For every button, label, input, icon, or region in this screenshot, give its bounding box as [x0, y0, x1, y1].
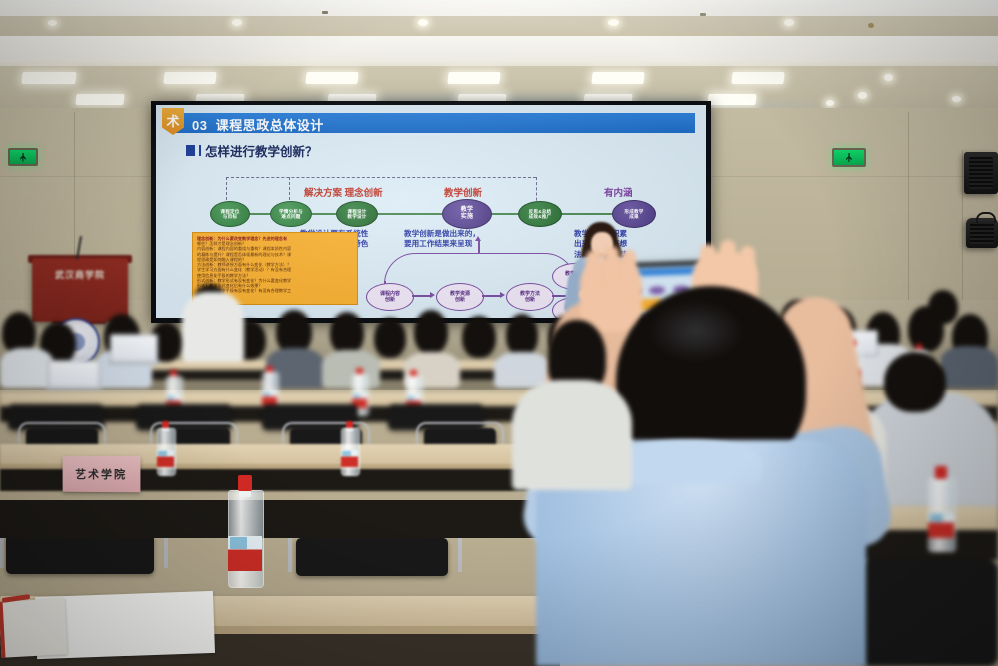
bottle-cap — [916, 344, 922, 350]
finger — [700, 244, 716, 280]
podium: 武汉商学院 — [32, 258, 128, 322]
water-bottle — [157, 428, 174, 474]
downlight — [826, 100, 834, 106]
audience-torso — [182, 292, 244, 362]
water-bottle — [341, 428, 358, 474]
sub-node-2: 教学方法 创新 — [506, 283, 554, 311]
ceiling-panel-light — [591, 72, 644, 84]
flow-category-2: 有内涵 — [604, 185, 633, 199]
bottle-cap — [935, 466, 946, 478]
node-line2: 创新 — [455, 297, 465, 303]
laptop-base — [108, 361, 160, 365]
sub-connector — [552, 295, 566, 297]
ceiling-panel-light — [731, 72, 784, 84]
bottle-cap — [238, 475, 253, 491]
table-tent-label: 艺术学院 — [75, 466, 127, 482]
slide-question-heading: 怎样进行教学创新？ — [186, 141, 318, 160]
ceiling-panel-light — [75, 94, 124, 105]
downlight — [952, 96, 961, 102]
downlight — [418, 19, 428, 26]
downlight — [48, 20, 57, 26]
feedback-dash-line — [226, 177, 536, 178]
node-line2: 教学设计 — [347, 214, 366, 219]
slide-section-title: 课程思政总体设计 — [216, 118, 324, 133]
node-line2: 成果 — [629, 214, 639, 219]
table-tent-card: 艺术学院 — [63, 456, 141, 492]
flow-node-3: 教学 实施 — [442, 199, 492, 229]
laptop-base — [46, 387, 102, 391]
bottle-cap — [356, 368, 363, 375]
sub-node-1: 教学资源 创新 — [436, 283, 484, 311]
water-bottle — [928, 478, 954, 550]
flow-node-2: 课程设计 教学设计 — [336, 201, 378, 227]
laptop-screen — [48, 360, 100, 390]
phone-slide-node — [649, 286, 665, 295]
finger — [604, 246, 619, 280]
photographer-collar — [612, 440, 762, 484]
node-line1: 教学 — [461, 207, 473, 214]
ceiling-band-upper — [0, 16, 998, 38]
bottle-label — [157, 450, 174, 467]
downlight — [608, 19, 619, 26]
bottle-cap — [266, 366, 273, 373]
hair-highlight — [648, 300, 744, 362]
bottle-cap — [170, 370, 177, 377]
smoke-detector — [868, 23, 874, 28]
bottle-cap — [410, 370, 417, 377]
podium-institution-name: 武汉商学院 — [32, 268, 128, 281]
wall-speaker-right — [964, 152, 998, 194]
audience-torso — [512, 380, 632, 490]
node-line2: 难点问题 — [281, 214, 300, 219]
downlight — [232, 19, 242, 26]
audience-head — [462, 316, 496, 358]
ceiling-panel-light — [163, 72, 216, 84]
ceiling-panel-light — [305, 72, 358, 84]
running-man-icon — [846, 153, 852, 162]
node-line2: 成效&推广 — [529, 214, 552, 219]
notebook — [0, 598, 67, 657]
audience-head — [928, 290, 958, 324]
sub-flow-brace-stem — [478, 241, 480, 254]
sub-connector — [482, 295, 502, 297]
laptop-screen — [110, 334, 158, 364]
bottle-cap — [162, 421, 169, 429]
exit-sign-right — [832, 148, 866, 167]
downlight — [784, 19, 794, 26]
flow-node-0: 课程定位 与目标 — [210, 201, 250, 227]
flow-note-1: 教学创新是做出来的， 要用工作结果来呈现 — [404, 229, 480, 250]
audience-head — [414, 310, 448, 354]
water-bottle-foreground — [228, 490, 262, 586]
ceiling-sensor — [700, 13, 706, 16]
audience-torso — [0, 348, 54, 388]
finger — [586, 250, 601, 286]
lecture-hall-photo: 术 03 课程思政总体设计 怎样进行教学创新？ 解决方案 理念创新 教学创新 有… — [0, 0, 998, 666]
finger — [622, 250, 636, 280]
audience-head — [330, 312, 364, 354]
node-line2: 创新 — [525, 297, 535, 303]
finger — [740, 246, 755, 280]
running-man-icon — [20, 153, 26, 162]
node-line2: 与目标 — [223, 214, 237, 219]
flow-node-5: 形成教学 成果 — [612, 200, 656, 228]
slide-badge-glyph: 术 — [166, 115, 179, 128]
ceiling-sensor — [322, 11, 328, 14]
flow-node-4: 反思&总结 成效&推广 — [518, 201, 562, 227]
flow-category-1: 教学创新 — [444, 185, 482, 199]
desk-underside-dark — [0, 500, 560, 538]
ceiling-cove-light — [0, 36, 998, 62]
downlight — [858, 92, 867, 99]
finger — [720, 240, 736, 278]
bottle-label — [928, 513, 954, 539]
chair-seatback — [296, 538, 448, 576]
flow-node-1: 学情分析与 难点问题 — [270, 201, 312, 227]
downlight — [884, 74, 893, 81]
audience-head — [884, 352, 946, 412]
speaker-handle — [976, 212, 996, 223]
exit-sign-left — [8, 148, 38, 166]
heading-text: 怎样进行教学创新？ — [205, 141, 318, 160]
sub-flow-brace-tip — [475, 236, 481, 241]
sub-flow-brace — [384, 253, 576, 284]
flow-category-0: 解决方案 理念创新 — [304, 185, 383, 199]
slide-title: 03 课程思政总体设计 — [192, 115, 324, 134]
chair-seatback — [6, 534, 154, 574]
bottle-label — [228, 536, 262, 571]
ceiling-panel-light — [21, 72, 76, 84]
node-line2: 创新 — [385, 297, 395, 303]
bottle-label — [341, 450, 358, 467]
heading-bullet-icon — [186, 145, 195, 156]
heading-bullet-bar-icon — [199, 145, 201, 156]
bottle-cap — [346, 421, 353, 429]
sub-arrow-icon — [430, 292, 435, 298]
node-line2: 实施 — [461, 214, 473, 221]
audience-torso — [940, 346, 998, 388]
sub-arrow-icon — [500, 292, 505, 298]
ceiling-panel-light — [447, 72, 500, 84]
audience-head — [506, 314, 538, 356]
chair-seatback — [860, 560, 998, 666]
sub-node-0: 课程内容 创新 — [366, 283, 414, 311]
audience-torso — [322, 350, 380, 388]
audience-head — [374, 318, 406, 358]
slide-section-number: 03 — [192, 118, 207, 133]
sub-connector — [412, 295, 432, 297]
ceiling-panel-light — [707, 94, 756, 105]
